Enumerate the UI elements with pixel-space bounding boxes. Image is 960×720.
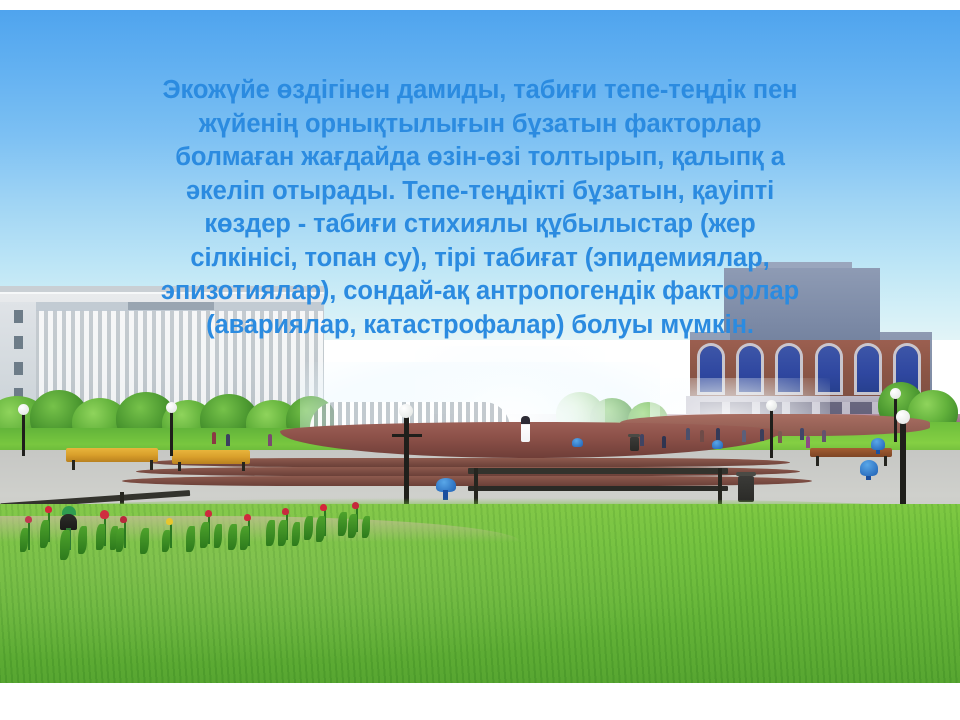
caption-text: Экожүйе өздігінен дамиды, табиғи тепе-те… xyxy=(58,74,902,342)
person xyxy=(800,428,804,440)
tulip-leaf xyxy=(40,520,49,548)
window xyxy=(14,310,23,323)
person xyxy=(742,430,746,442)
tulip-leaf xyxy=(96,524,105,550)
person xyxy=(778,431,782,443)
lamp-head xyxy=(18,404,29,415)
person xyxy=(716,428,720,440)
tulip-flower xyxy=(25,516,32,523)
tulip-leaf xyxy=(348,514,357,538)
lamp-post xyxy=(170,408,173,456)
tulip-flower xyxy=(244,514,251,521)
trash-bin xyxy=(630,437,639,451)
tulip-leaf xyxy=(60,530,70,560)
lamp-head xyxy=(896,410,910,424)
fountain-step xyxy=(122,476,812,486)
arch-window xyxy=(857,346,879,392)
tulip-flower xyxy=(45,506,52,513)
tulip-leaf xyxy=(200,522,209,548)
tulip-leaf xyxy=(316,516,325,542)
foreground-bench-backrest xyxy=(468,468,728,474)
person xyxy=(212,432,216,444)
tulip-leaf xyxy=(292,522,300,546)
bench-leg xyxy=(72,460,75,470)
bench-leg xyxy=(150,460,153,470)
drinking-fountain xyxy=(572,438,583,447)
tulip-leaf xyxy=(20,528,28,552)
lamp-head xyxy=(766,400,777,411)
tulip-flower xyxy=(205,510,212,517)
tulip-flower xyxy=(100,510,109,519)
person xyxy=(662,436,666,448)
tulip-leaf xyxy=(240,526,249,550)
person xyxy=(760,429,764,441)
foreground-lamp-post xyxy=(900,418,906,510)
tulip-leaf xyxy=(362,516,370,538)
tulip-leaf xyxy=(304,516,313,540)
lamp-head xyxy=(890,388,901,399)
lamp-crossbar xyxy=(392,434,422,437)
window xyxy=(14,336,23,349)
person xyxy=(700,430,704,442)
tulip-stem xyxy=(124,522,126,548)
foreground-lamp-post xyxy=(404,412,409,512)
tulip-leaf xyxy=(162,530,170,552)
foreground-bench-seat xyxy=(468,486,728,491)
tulip-leaf xyxy=(186,526,195,552)
tulip-leaf xyxy=(214,524,222,548)
person xyxy=(268,434,272,446)
tulip-flower xyxy=(166,518,173,525)
tulip-flower xyxy=(320,504,327,511)
drinking-fountain xyxy=(871,438,885,450)
lamp-post xyxy=(22,410,25,456)
drinking-fountain xyxy=(712,440,723,449)
tulip-leaf xyxy=(338,512,347,536)
lamp-post xyxy=(770,406,773,458)
tulip-leaf xyxy=(140,528,149,554)
tulip-leaf xyxy=(78,526,87,554)
tulip-leaf xyxy=(278,520,287,546)
bench-leg xyxy=(178,462,181,471)
person xyxy=(822,430,826,442)
tulip-leaf xyxy=(266,520,275,546)
bench xyxy=(172,450,250,464)
lamp-head xyxy=(166,402,177,413)
drinking-fountain xyxy=(860,460,878,476)
person xyxy=(806,436,810,448)
tulip-stem xyxy=(170,524,172,548)
tulip-leaf xyxy=(116,528,124,552)
bench xyxy=(66,448,158,462)
bench-leg xyxy=(242,462,245,471)
lamp-head xyxy=(399,404,413,418)
tulip-flower xyxy=(352,502,359,509)
person xyxy=(686,428,690,440)
tulip-stem xyxy=(28,522,30,550)
bench-leg xyxy=(816,456,819,466)
tulip-leaf xyxy=(228,524,237,550)
bench-leg xyxy=(884,456,887,466)
window xyxy=(14,362,23,375)
person xyxy=(640,434,644,446)
trash-bin xyxy=(738,476,754,502)
person-in-white-dress xyxy=(521,416,530,442)
person xyxy=(226,434,230,446)
tulip-flower xyxy=(282,508,289,515)
slide-canvas: Экожүйе өздігінен дамиды, табиғи тепе-те… xyxy=(0,0,960,720)
tulip-flower xyxy=(120,516,127,523)
